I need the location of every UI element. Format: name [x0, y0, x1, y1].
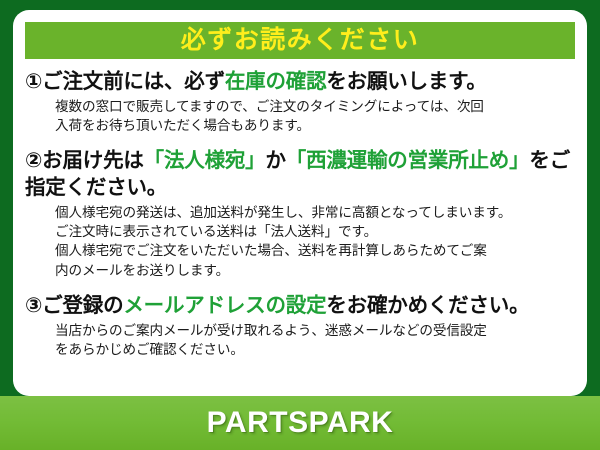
notice-item-1-head-seg-1: ご注文前には、必ず [42, 70, 225, 93]
notice-item-2-number: ② [25, 149, 42, 172]
notice-item-3-body: 当店からのご案内メールが受け取れるよう、迷惑メールなどの受信設定 をあらかじめご… [55, 321, 577, 360]
notice-item-2-body: 個人様宅宛の発送は、追加送料が発生し、非常に高額となってしまいます。 ご注文時に… [55, 203, 577, 280]
notice-item-1-body: 複数の窓口で販売してますので、ご注文のタイミングによっては、次回 入荷をお待ち頂… [55, 97, 577, 136]
notice-item-3-number: ③ [25, 294, 42, 317]
notice-item-3-head-seg-2: メールアドレスの設定 [123, 294, 326, 317]
notice-item-1-head-seg-3: をお願いします。 [326, 70, 486, 93]
notice-item-2-body-line-4: 内のメールをお送りします。 [55, 261, 577, 280]
notice-item-2-body-line-1: 個人様宅宛の発送は、追加送料が発生し、非常に高額となってしまいます。 [55, 203, 577, 222]
notice-item-1: ①ご注文前には、必ず在庫の確認をお願いします。 複数の窓口で販売してますので、ご… [25, 68, 577, 136]
notice-item-3-head-seg-1: ご登録の [42, 294, 123, 317]
notice-item-2-body-line-2: ご注文時に表示されている送料は「法人送料」です。 [55, 222, 577, 241]
notice-card: 必ずお読みください ①ご注文前には、必ず在庫の確認をお願いします。 複数の窓口で… [0, 0, 600, 450]
notice-item-2-head-seg-4: 「西濃運輸の営業所止め」 [286, 149, 530, 172]
notice-item-2-head-seg-3: か [265, 149, 285, 172]
notice-header-bar: 必ずお読みください [25, 22, 575, 59]
notice-item-2: ②お届け先は「法人様宛」か「西濃運輸の営業所止め」をご指定ください。 個人様宅宛… [25, 147, 577, 280]
notice-item-list: ①ご注文前には、必ず在庫の確認をお願いします。 複数の窓口で販売してますので、ご… [13, 68, 587, 364]
notice-item-3-body-line-2: をあらかじめご確認ください。 [55, 340, 577, 359]
notice-panel: 必ずお読みください ①ご注文前には、必ず在庫の確認をお願いします。 複数の窓口で… [13, 10, 587, 396]
notice-item-2-heading: ②お届け先は「法人様宛」か「西濃運輸の営業所止め」をご指定ください。 [25, 147, 577, 201]
notice-item-1-head-seg-2: 在庫の確認 [225, 70, 327, 93]
notice-item-1-number: ① [25, 70, 42, 93]
notice-item-3-body-line-1: 当店からのご案内メールが受け取れるよう、迷惑メールなどの受信設定 [55, 321, 577, 340]
brand-footer-bar: PARTSPARK [0, 396, 600, 450]
notice-item-1-body-line-1: 複数の窓口で販売してますので、ご注文のタイミングによっては、次回 [55, 97, 577, 116]
notice-item-1-heading: ①ご注文前には、必ず在庫の確認をお願いします。 [25, 68, 577, 95]
notice-item-3: ③ご登録のメールアドレスの設定をお確かめください。 当店からのご案内メールが受け… [25, 292, 577, 360]
notice-item-1-body-line-2: 入荷をお待ち頂いただく場合もあります。 [55, 116, 577, 135]
page-title: 必ずお読みください [181, 28, 420, 53]
notice-item-2-head-seg-2: 「法人様宛」 [144, 149, 266, 172]
notice-item-3-head-seg-3: をお確かめください。 [326, 294, 529, 317]
notice-item-2-head-seg-1: お届け先は [42, 149, 144, 172]
brand-logo-text: PARTSPARK [207, 408, 394, 438]
notice-item-2-body-line-3: 個人様宅宛でご注文をいただいた場合、送料を再計算しあらためてご案 [55, 241, 577, 260]
notice-item-3-heading: ③ご登録のメールアドレスの設定をお確かめください。 [25, 292, 577, 319]
